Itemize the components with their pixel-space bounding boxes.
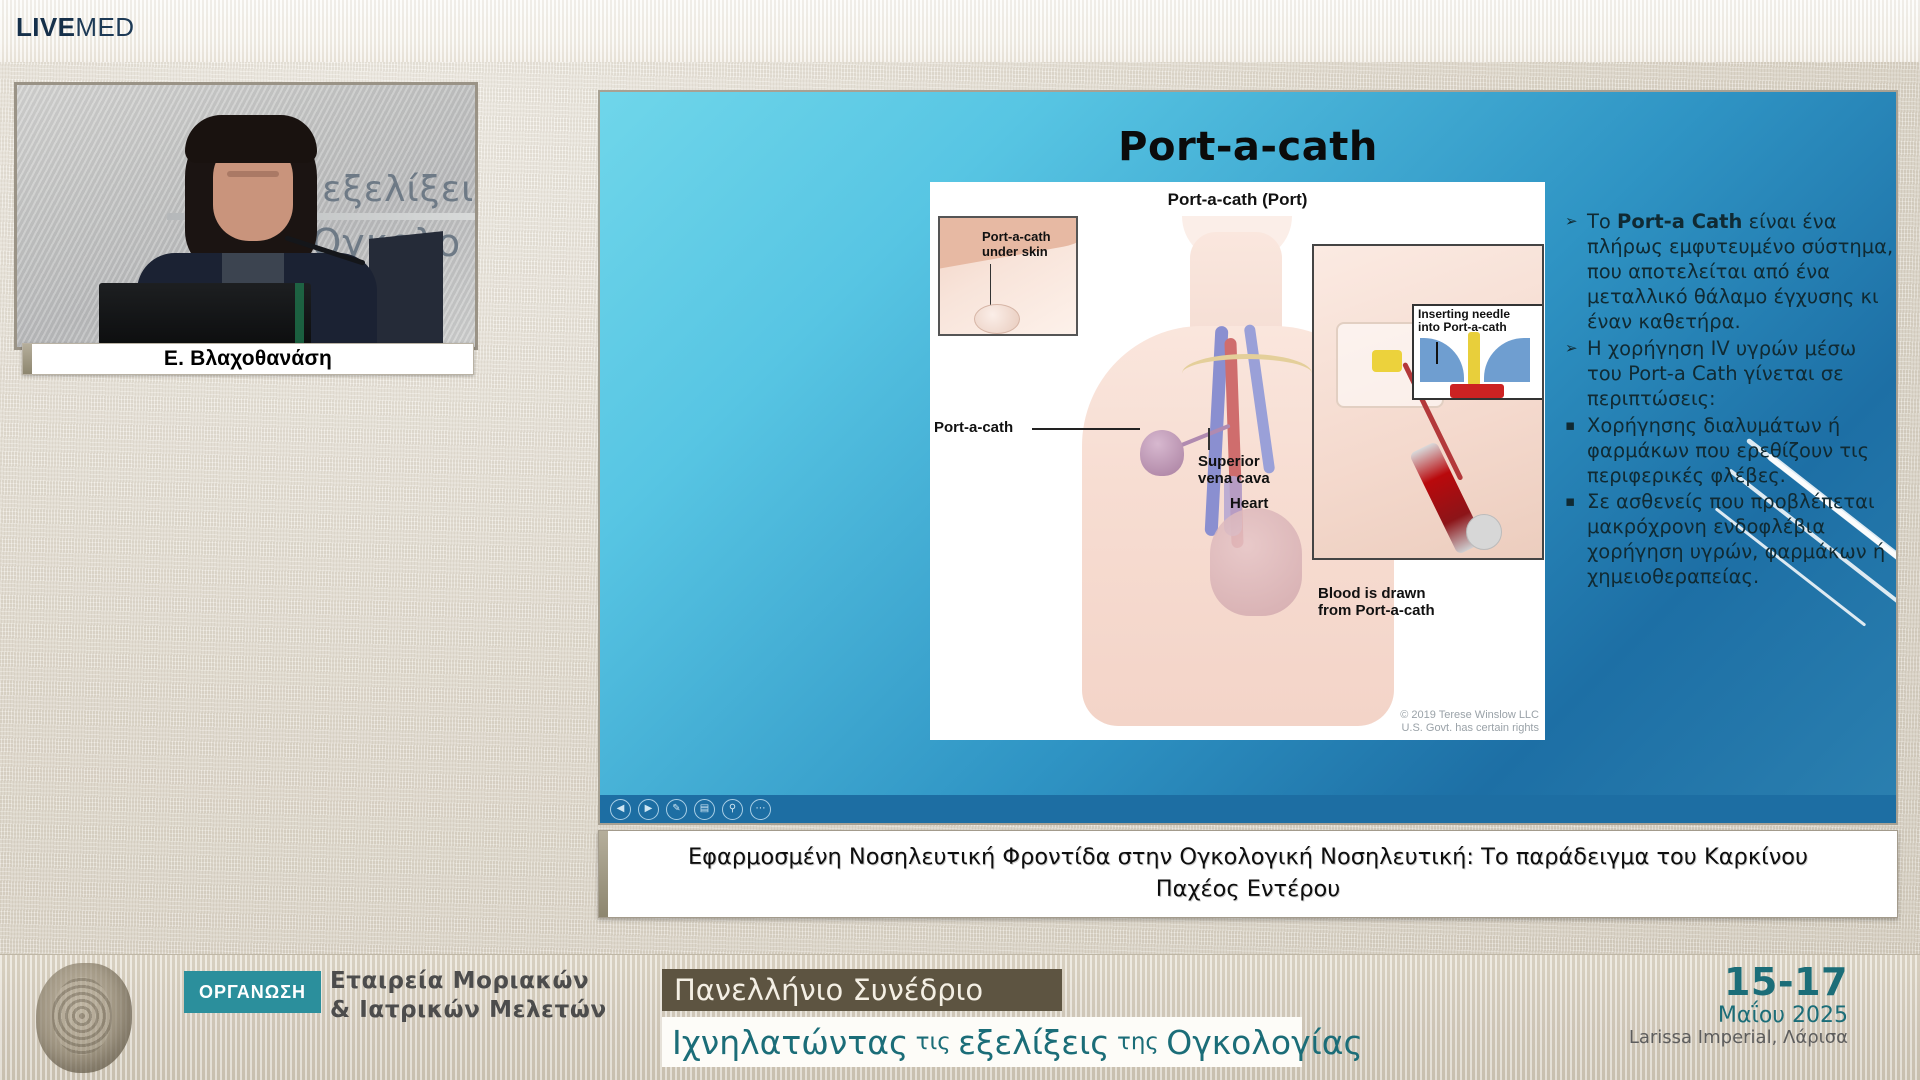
bullet-marker-icon: ▪ (1565, 490, 1579, 590)
dates-month-year: Μαΐου 2025 (1629, 1004, 1848, 1029)
speaker-nameplate: Ε. Βλαχοθανάση (22, 343, 474, 375)
heart-shape (1210, 508, 1302, 616)
slide-bullet-list: ➢Το Port-a Cath είναι ένα πλήρως εμφυτευ… (1565, 210, 1895, 592)
port-a-cath-illustration: Port-a-cath (Port) Port-a-cath under ski… (930, 182, 1545, 740)
more-options-icon[interactable]: ⋯ (750, 799, 771, 820)
congress-label: Πανελλήνιο Συνέδριο (674, 973, 983, 1007)
conference-footer: ΟΡΓΑΝΩΣΗ Εταιρεία Μοριακών & Ιατρικών Με… (0, 954, 1920, 1080)
next-slide-icon[interactable]: ▶ (638, 799, 659, 820)
congress-bar: Πανελλήνιο Συνέδριο (662, 969, 1062, 1011)
bullet-item: ▪Σε ασθενείς που προβλέπεται μακρόχρονη … (1565, 490, 1895, 590)
bullet-emphasis: Port-a Cath (1617, 210, 1742, 233)
clavicle (1182, 354, 1312, 393)
subcut-left (1420, 338, 1464, 382)
port-bump-shape (974, 304, 1020, 334)
all-slides-icon[interactable]: ▤ (694, 799, 715, 820)
label-blood-drawn: Blood is drawn from Port-a-cath (1318, 586, 1435, 620)
label-heart: Heart (1230, 496, 1268, 513)
backdrop-exelixeis: εξελίξεις (322, 169, 478, 210)
side-screen (369, 231, 443, 350)
illustration-title: Port-a-cath (Port) (930, 190, 1545, 209)
livemed-logo: LIVEMED (16, 14, 134, 40)
congress-theme-bar: Ιχνηλατώντας τις εξελίξεις της Ογκολογία… (662, 1017, 1302, 1067)
down-arrow-icon (1436, 342, 1438, 364)
organizer-name: Εταιρεία Μοριακών & Ιατρικών Μελετών (330, 967, 660, 1026)
theme-word-1: Ιχνηλατώντας (672, 1023, 908, 1062)
bullet-text: Σε ασθενείς που προβλέπεται μακρόχρονη ε… (1587, 490, 1895, 590)
congress-dates: 15-17 Μαΐου 2025 Larissa Imperial, Λάρισ… (1629, 961, 1848, 1048)
theme-word-5: Ογκολογίας (1166, 1023, 1363, 1062)
bullet-item: ➢Η χορήγηση IV υγρών μέσω του Port-a Cat… (1565, 337, 1895, 412)
bullet-text: Το Port-a Cath είναι ένα πλήρως εμφυτευμ… (1587, 210, 1895, 335)
logo-live: LIVE (16, 12, 75, 42)
organizer-name-line2: & Ιατρικών Μελετών (330, 996, 660, 1025)
session-caption-text: Εφαρμοσμένη Νοσηλευτική Φροντίδα στην Ογ… (643, 842, 1853, 906)
port-device-shape (1140, 430, 1184, 476)
organizer-badge-label: ΟΡΓΑΝΩΣΗ (199, 982, 306, 1003)
dates-range: 15-17 (1629, 961, 1848, 1004)
port-leader-line (1032, 428, 1140, 430)
svc-leader-line (1208, 428, 1210, 450)
speaker-name: Ε. Βλαχοθανάση (164, 347, 332, 371)
needle-hub-icon (1372, 350, 1402, 372)
pen-icon[interactable]: ✎ (666, 799, 687, 820)
laptop (99, 283, 311, 345)
bullet-marker-icon: ▪ (1565, 414, 1579, 489)
speaker-hair-front (185, 115, 317, 163)
page-background: LIVEMED τις εξελίξεις ς Ογκολο Ε. Βλαχοθ… (0, 0, 1920, 1080)
bullet-marker-icon: ➢ (1565, 337, 1579, 412)
slide-title: Port-a-cath (600, 124, 1896, 170)
session-caption: Εφαρμοσμένη Νοσηλευτική Φροντίδα στην Ογ… (598, 830, 1898, 918)
bullet-marker-icon: ➢ (1565, 210, 1579, 335)
speaker-video[interactable]: τις εξελίξεις ς Ογκολο (14, 82, 478, 350)
port-chamber (1450, 384, 1504, 398)
inset-under-skin: Port-a-cath under skin (938, 216, 1078, 336)
label-superior-vena-cava: Superior vena cava (1198, 454, 1270, 488)
zoom-icon[interactable]: ⚲ (722, 799, 743, 820)
theme-word-3: εξελίξεις (958, 1023, 1110, 1062)
bullet-text: Χορήγησης διαλυμάτων ή φαρμάκων που ερεθ… (1587, 414, 1895, 489)
fossil-logo-icon (36, 963, 132, 1073)
gauze-shape (1466, 514, 1502, 550)
venue: Larissa Imperial, Λάρισα (1629, 1028, 1848, 1048)
organizer-name-line1: Εταιρεία Μοριακών (330, 967, 660, 996)
theme-word-2: τις (916, 1029, 951, 1055)
bullet-item: ➢Το Port-a Cath είναι ένα πλήρως εμφυτευ… (1565, 210, 1895, 335)
bullet-text: Η χορήγηση IV υγρών μέσω του Port-a Cath… (1587, 337, 1895, 412)
laptop-edge (295, 283, 304, 345)
subcut-right (1484, 338, 1530, 382)
logo-med: MED (75, 12, 134, 42)
inset-leader-line (990, 264, 991, 306)
top-banner (0, 0, 1920, 62)
inset-needle-insertion: Inserting needle into Port-a-cath (1312, 244, 1544, 560)
inset-under-skin-label: Port-a-cath under skin (982, 230, 1051, 259)
inset-inserting-needle: Inserting needle into Port-a-cath (1412, 304, 1544, 400)
bullet-item: ▪Χορήγησης διαλυμάτων ή φαρμάκων που ερε… (1565, 414, 1895, 489)
previous-slide-icon[interactable]: ◀ (610, 799, 631, 820)
label-inserting-needle: Inserting needle into Port-a-cath (1418, 308, 1510, 335)
illustration-copyright: © 2019 Terese Winslow LLC U.S. Govt. has… (1400, 709, 1539, 737)
organizer-badge: ΟΡΓΑΝΩΣΗ (184, 971, 321, 1013)
presenter-toolbar[interactable]: ◀▶✎▤⚲⋯ (600, 795, 1898, 823)
label-port-a-cath: Port-a-cath (934, 420, 1013, 437)
presentation-slide[interactable]: Port-a-cath Port-a-cath (Port) Port-a-ca… (598, 90, 1898, 825)
theme-word-4: της (1117, 1029, 1159, 1055)
needle-shaft (1468, 332, 1480, 386)
